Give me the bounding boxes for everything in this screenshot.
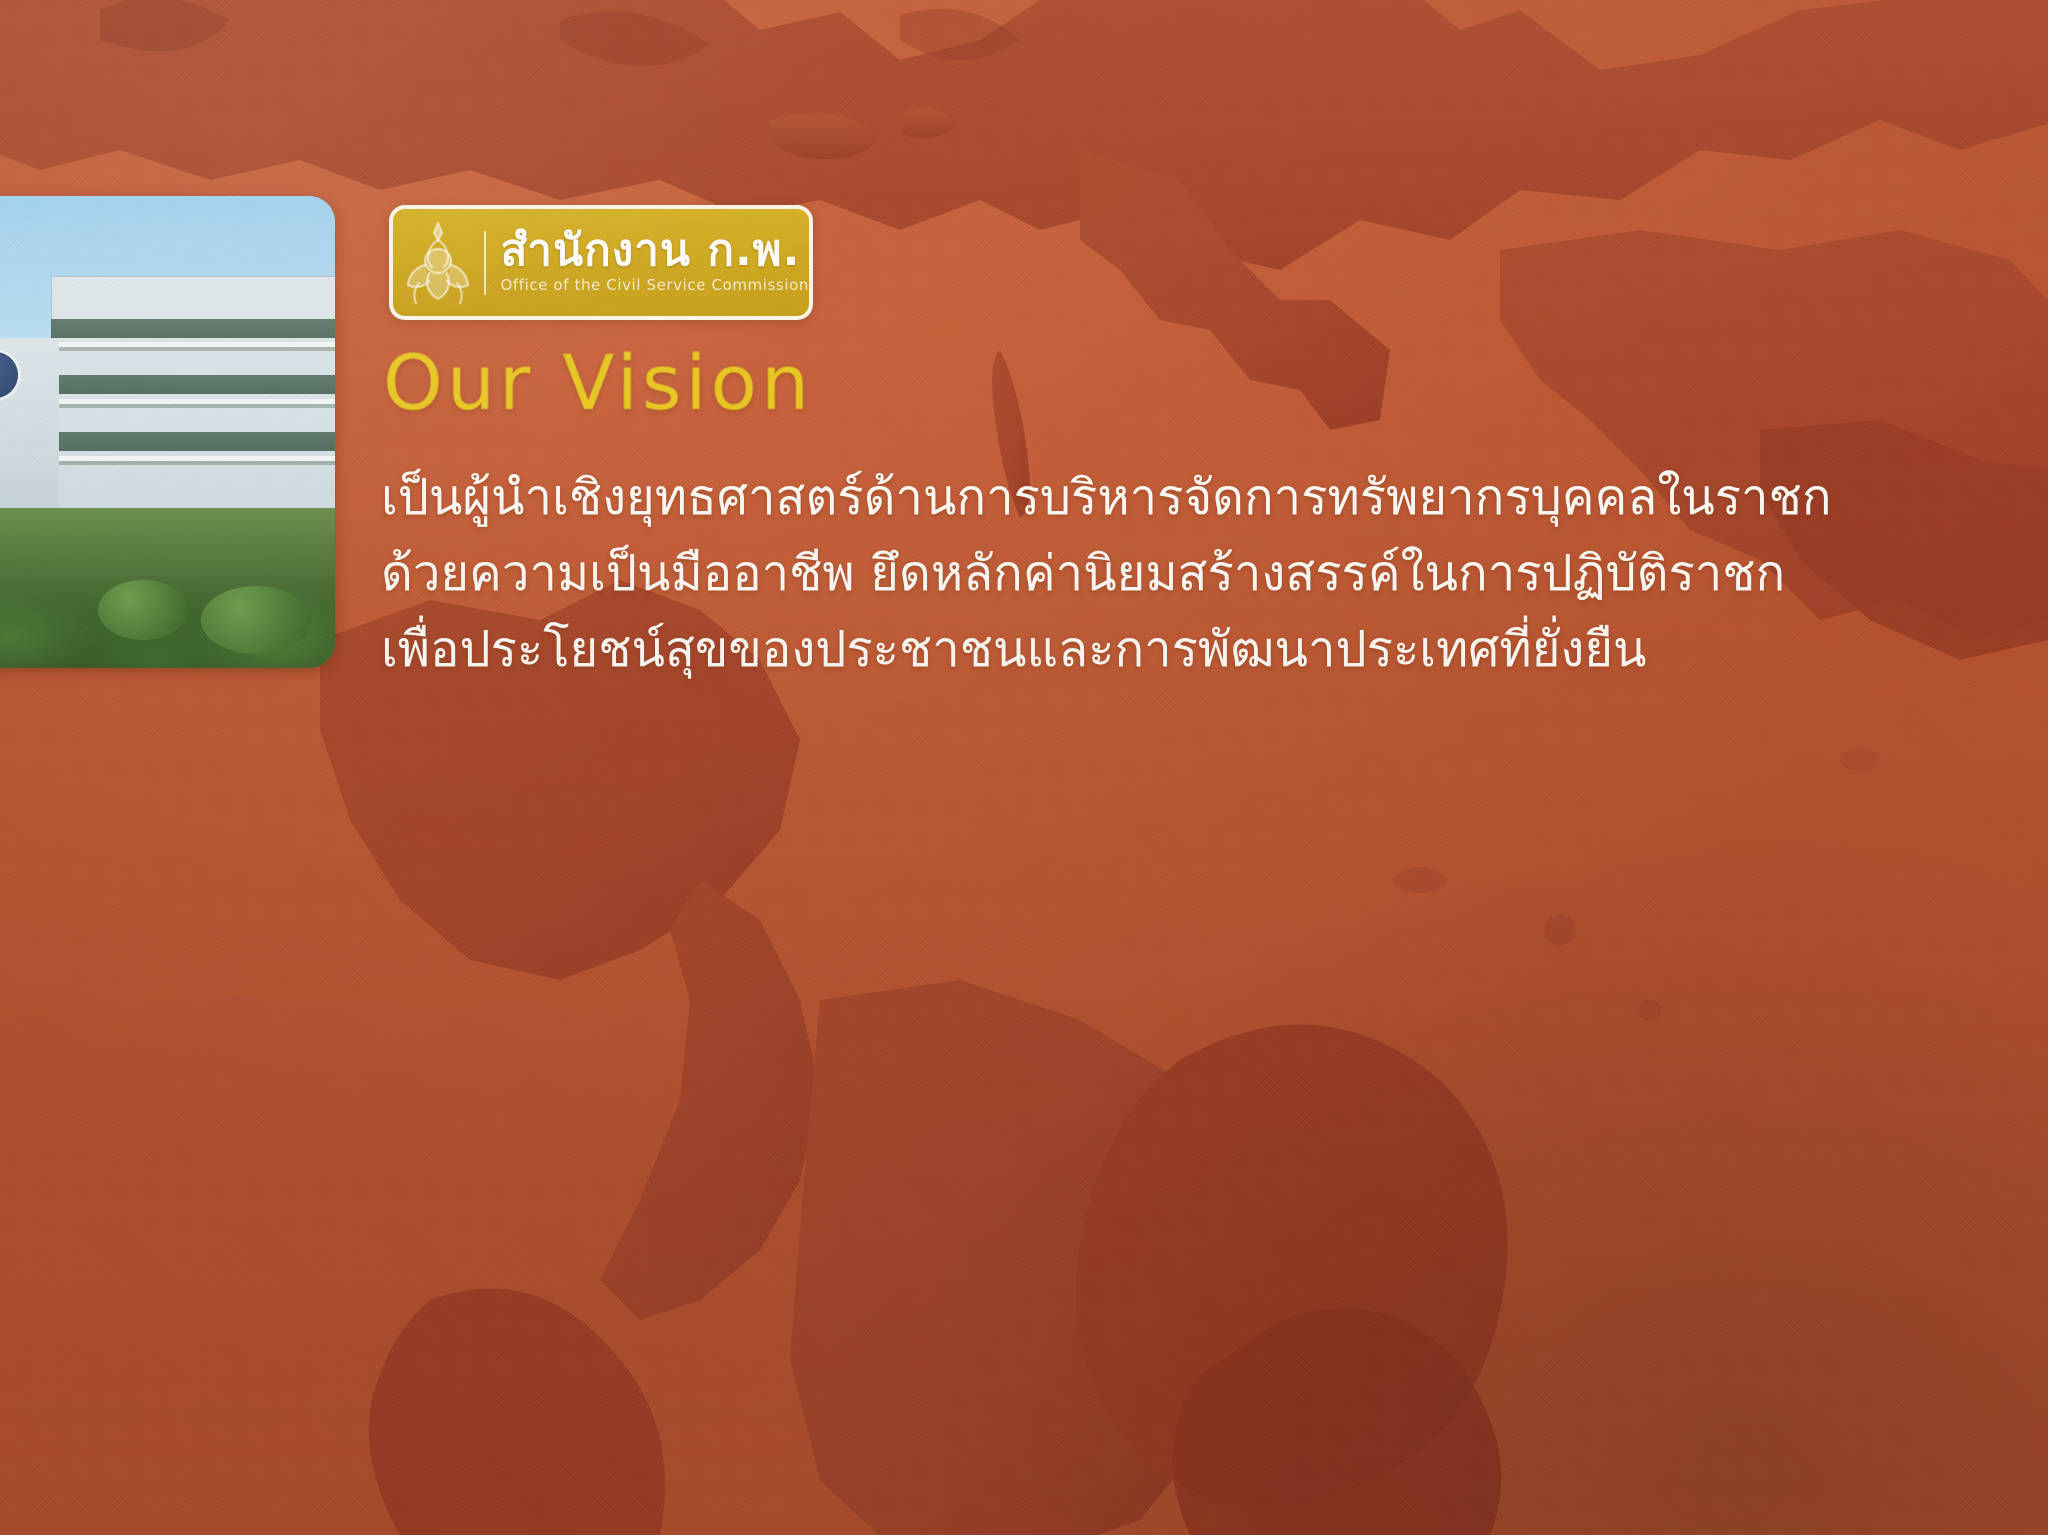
vision-line-1: เป็นผู้นำเชิงยุทธศาสตร์ด้านการบริหารจัดก…: [381, 460, 2048, 536]
page-title: Our Vision: [383, 345, 813, 421]
vision-statement: เป็นผู้นำเชิงยุทธศาสตร์ด้านการบริหารจัดก…: [381, 460, 2048, 688]
photo-shrub: [201, 586, 311, 654]
photo-foliage: [0, 539, 98, 649]
photo-building-band-1: [51, 319, 335, 338]
photo-building-band-2: [51, 375, 335, 394]
vision-line-3: เพื่อประโยชน์สุขของประชาชนและการพัฒนาประ…: [381, 612, 2048, 688]
photo-shrub: [98, 580, 188, 640]
photo-building-floor-3: [51, 456, 335, 461]
vision-poster: สำนักงาน ก.พ. Office of the Civil Servic…: [0, 0, 2048, 1535]
photo-building-floor-2: [51, 399, 335, 404]
vision-line-2: ด้วยความเป็นมืออาชีพ ยึดหลักค่านิยมสร้าง…: [381, 536, 2048, 612]
ocsc-logo-badge: สำนักงาน ก.พ. Office of the Civil Servic…: [389, 205, 813, 320]
badge-text-group: สำนักงาน ก.พ. Office of the Civil Servic…: [500, 229, 809, 295]
badge-thai-name: สำนักงาน ก.พ.: [500, 229, 809, 274]
badge-divider: [484, 231, 487, 295]
photo-building-floor-1: [51, 342, 335, 347]
garuda-emblem-icon: [393, 217, 484, 309]
office-building-photograph: [0, 196, 335, 668]
photo-building-band-3: [51, 432, 335, 451]
badge-english-name: Office of the Civil Service Commission: [500, 277, 809, 294]
